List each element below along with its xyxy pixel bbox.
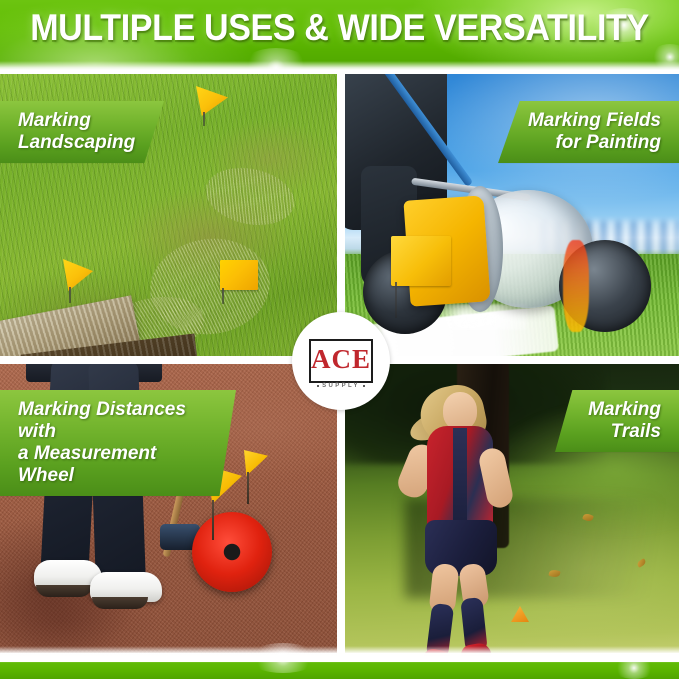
caption-marking-trails: Marking Trails bbox=[555, 390, 679, 452]
panel-marking-fields: Marking Fields for Painting bbox=[345, 74, 679, 356]
sparkle-icon bbox=[240, 48, 312, 70]
infographic-root: MULTIPLE USES & WIDE VERSATILITY bbox=[0, 0, 679, 679]
caption-text: Marking Fields for Painting bbox=[528, 110, 661, 154]
marking-flag-icon bbox=[196, 86, 228, 122]
grass-tuft bbox=[200, 160, 299, 233]
runner bbox=[405, 392, 535, 642]
logo-dot-icon bbox=[363, 385, 365, 387]
logo-dot-icon bbox=[317, 385, 319, 387]
caption-text: Marking Landscaping bbox=[18, 110, 135, 154]
wheel-stripe bbox=[563, 240, 589, 332]
runner-sock bbox=[426, 603, 454, 656]
caption-text: Marking Trails bbox=[588, 399, 661, 443]
header-banner: MULTIPLE USES & WIDE VERSATILITY bbox=[0, 0, 679, 70]
panel-marking-distances: Marking Distances with a Measurement Whe… bbox=[0, 364, 337, 656]
logo-tagline-wrap: SUPPLY bbox=[311, 383, 371, 389]
logo-tagline-text: SUPPLY bbox=[322, 383, 360, 389]
page-title: MULTIPLE USES & WIDE VERSATILITY bbox=[27, 7, 652, 49]
marking-flag-icon bbox=[391, 236, 453, 318]
panel-marking-landscaping: Marking Landscaping bbox=[0, 74, 337, 356]
marking-flag-icon bbox=[220, 260, 260, 302]
footer-banner bbox=[0, 662, 679, 679]
caption-text: Marking Distances with a Measurement Whe… bbox=[18, 399, 210, 487]
panel-marking-trails: Marking Trails bbox=[345, 364, 679, 656]
sparkle-icon bbox=[650, 44, 679, 70]
marking-flag-icon bbox=[63, 259, 95, 301]
brand-logo-badge: ACE SUPPLY bbox=[292, 312, 390, 410]
caption-marking-landscaping: Marking Landscaping bbox=[0, 101, 164, 163]
runner-head bbox=[443, 392, 477, 430]
person-shoe bbox=[90, 572, 162, 602]
sparkle-icon bbox=[612, 657, 656, 679]
runner-top-stripe bbox=[453, 428, 467, 532]
marking-flag-icon bbox=[244, 450, 270, 504]
logo-frame: ACE SUPPLY bbox=[309, 339, 373, 383]
caption-marking-fields: Marking Fields for Painting bbox=[498, 101, 679, 163]
caption-marking-distances: Marking Distances with a Measurement Whe… bbox=[0, 390, 236, 496]
logo-brand-text: ACE bbox=[311, 346, 371, 373]
